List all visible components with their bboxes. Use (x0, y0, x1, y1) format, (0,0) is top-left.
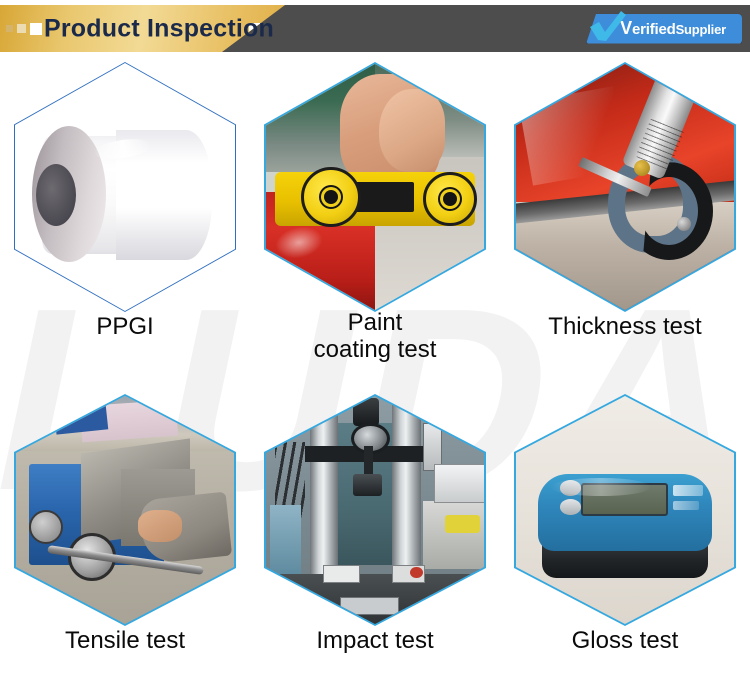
gl-brand-mark (673, 485, 704, 496)
hex-frame-tensile (14, 394, 236, 626)
im-desk (423, 501, 484, 569)
hex-frame-thickness (514, 62, 736, 312)
cell-label-ppgi: PPGI (96, 314, 153, 341)
im-load-cell (353, 398, 379, 425)
gl-brand-sub (673, 501, 699, 510)
header-decor-squares-left (6, 23, 42, 35)
te-operator-hand (138, 510, 182, 542)
inspection-cell-gloss[interactable]: Gloss test (500, 388, 750, 696)
inspection-cell-thickness[interactable]: Thickness test (500, 58, 750, 388)
micrometer-thickness-photo (516, 64, 734, 310)
decor-square-small-icon (6, 25, 13, 32)
verified-supplier-badge: VerifiedSupplier (586, 12, 742, 46)
ppgi-coil-photo (16, 64, 234, 310)
pc-thumb (379, 89, 444, 173)
tensile-machine-photo (16, 396, 234, 624)
inspection-cell-ppgi[interactable]: PPGI (0, 58, 250, 388)
gloss-artwork (516, 396, 734, 624)
badge-verified-text: erified (632, 21, 676, 38)
hex-frame-impact (264, 394, 486, 626)
th-brass-screw (634, 160, 650, 176)
coil-artwork (16, 64, 234, 310)
verified-supplier-label: VerifiedSupplier (620, 18, 726, 39)
im-nameplate-left (323, 565, 360, 583)
im-printer (434, 464, 484, 502)
universal-testing-machine-photo (266, 396, 484, 624)
thickness-artwork (516, 64, 734, 310)
inspection-cell-tensile[interactable]: Tensile test (0, 388, 250, 696)
paint-coating-gauge-photo (266, 64, 484, 310)
badge-supplier-text: Supplier (676, 22, 726, 37)
gl-button-lower (560, 499, 582, 515)
header-bar: Product Inspection VerifiedSupplier (0, 5, 750, 52)
pc-dial-right (423, 172, 477, 226)
te-small-wheel (29, 510, 63, 544)
tensile-artwork (16, 396, 234, 624)
im-side-panel (270, 505, 301, 573)
hex-frame-paint-coating (264, 62, 486, 312)
inspection-grid: PPGI (0, 58, 750, 696)
inspection-cell-impact[interactable]: Impact test (250, 388, 500, 696)
gloss-meter-photo (516, 396, 734, 624)
label-line-1: Paint (314, 310, 437, 337)
th-steel-screw (677, 217, 691, 231)
im-lower-grip (353, 474, 381, 497)
check-mark-icon (588, 10, 628, 44)
page-title: Product Inspection (44, 14, 274, 43)
im-yellow-object (445, 515, 480, 533)
pc-dial-center (324, 190, 338, 204)
product-inspection-page: LUDA Product Inspection VerifiedSupplier (0, 0, 750, 696)
cell-label-impact: Impact test (316, 628, 433, 655)
cell-label-thickness: Thickness test (548, 314, 701, 341)
decor-square-large-icon (30, 23, 42, 35)
cell-label-paint-coating: Paint coating test (314, 310, 437, 364)
hex-frame-gloss (514, 394, 736, 626)
coil-hole (36, 164, 76, 226)
pc-dial-left (301, 167, 361, 227)
paint-coating-artwork (266, 64, 484, 310)
decor-square-medium-icon (17, 24, 26, 33)
impact-artwork (266, 396, 484, 624)
pc-dial-center (443, 192, 457, 206)
im-right-column (392, 401, 420, 579)
hex-frame-ppgi (14, 62, 236, 312)
cell-label-tensile: Tensile test (65, 628, 185, 655)
label-line-2: coating test (314, 337, 437, 364)
cell-label-gloss: Gloss test (572, 628, 679, 655)
inspection-cell-paint-coating[interactable]: Paint coating test (250, 58, 500, 388)
